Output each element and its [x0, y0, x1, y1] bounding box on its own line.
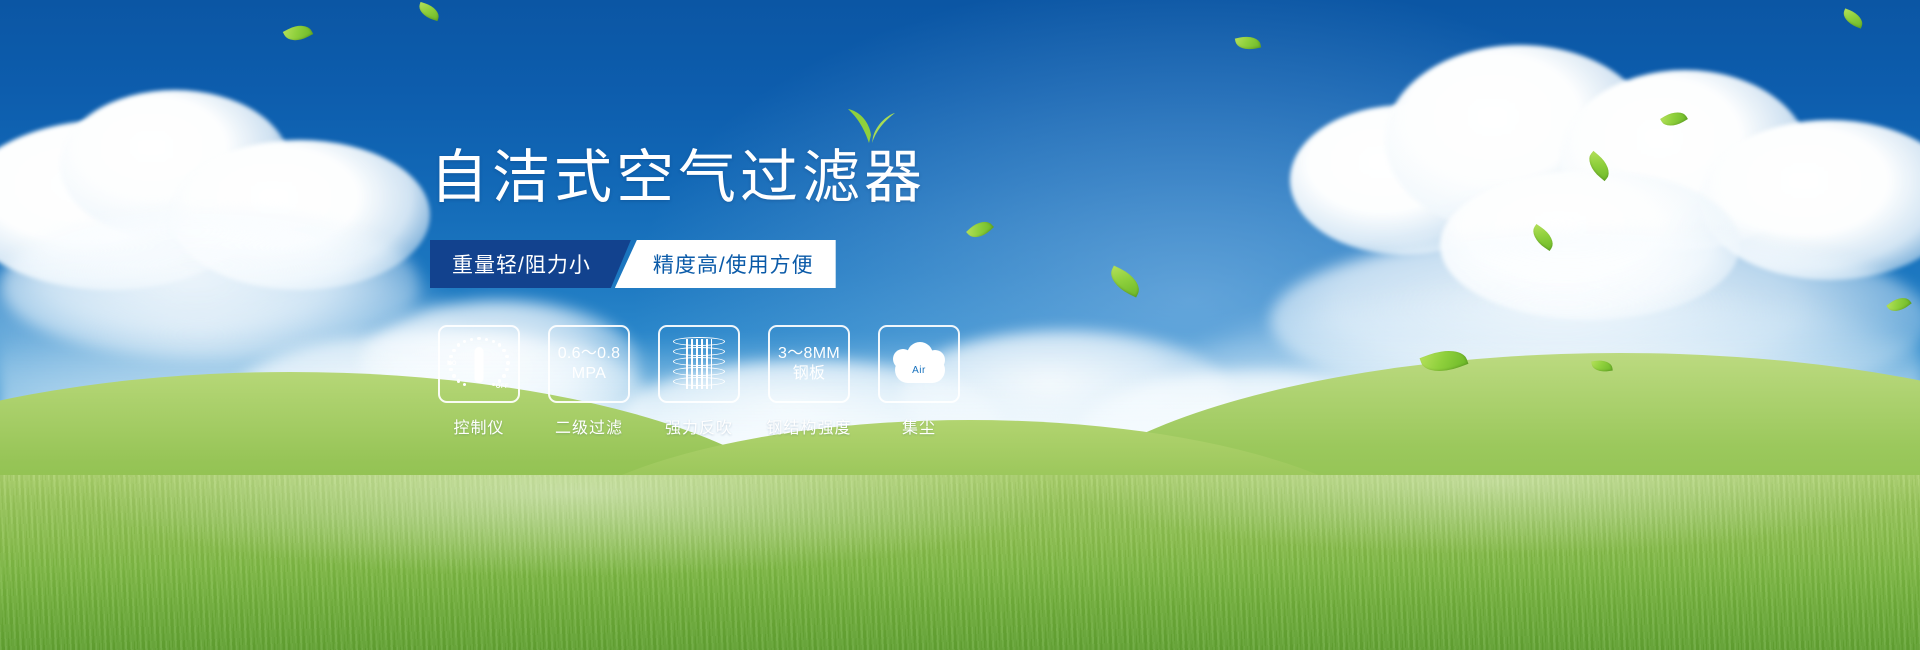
feature-label: 强力反吹 [665, 414, 733, 438]
feature-tags: 重量轻/阻力小 精度高/使用方便 [430, 240, 836, 288]
steel-text-icon: 3〜8MM 钢板 [778, 344, 840, 383]
feature-item-filtration[interactable]: 0.6〜0.8 MPA 二级过滤 [548, 325, 630, 438]
feature-list: NO OFF 控制仪 0.6〜0.8 MPA 二级过滤 [438, 325, 960, 438]
pressure-unit: MPA [558, 364, 621, 384]
feature-icon-box: Air [878, 325, 960, 403]
feature-item-backblow[interactable]: 强力反吹 [658, 325, 740, 438]
feature-item-controller[interactable]: NO OFF 控制仪 [438, 325, 520, 438]
pressure-value: 0.6〜0.8 [558, 345, 621, 362]
pressure-text-icon: 0.6〜0.8 MPA [558, 344, 621, 383]
feature-label: 控制仪 [453, 414, 504, 438]
tag-label: 重量轻/阻力小 [452, 249, 591, 279]
air-cloud-icon: Air [889, 341, 949, 387]
feature-label: 钢结构强度 [767, 414, 852, 438]
gauge-needle [475, 347, 484, 383]
feature-label: 集尘 [902, 414, 936, 438]
feature-icon-box: 3〜8MM 钢板 [768, 325, 850, 403]
coil-icon [673, 335, 725, 393]
gauge-label-no: NO [447, 361, 457, 367]
promo-banner: 自洁式空气过滤器 重量轻/阻力小 精度高/使用方便 [0, 0, 1920, 650]
feature-icon-box: 0.6〜0.8 MPA [548, 325, 630, 403]
banner-content: 自洁式空气过滤器 重量轻/阻力小 精度高/使用方便 [0, 0, 1920, 650]
feature-icon-box [658, 325, 740, 403]
tag-lightweight[interactable]: 重量轻/阻力小 [430, 240, 631, 288]
feature-item-dust[interactable]: Air 集尘 [878, 325, 960, 438]
feature-label: 二级过滤 [555, 414, 623, 438]
air-label: Air [889, 365, 949, 376]
title-leaf-icon [845, 105, 897, 145]
tag-precision[interactable]: 精度高/使用方便 [615, 240, 836, 288]
gauge-label-off: OFF [496, 384, 509, 390]
steel-thickness: 3〜8MM [778, 345, 840, 362]
feature-icon-box: NO OFF [438, 325, 520, 403]
gauge-icon: NO OFF [448, 335, 510, 393]
steel-material: 钢板 [778, 364, 840, 384]
tag-label: 精度高/使用方便 [653, 249, 814, 279]
feature-item-steel[interactable]: 3〜8MM 钢板 钢结构强度 [768, 325, 850, 438]
